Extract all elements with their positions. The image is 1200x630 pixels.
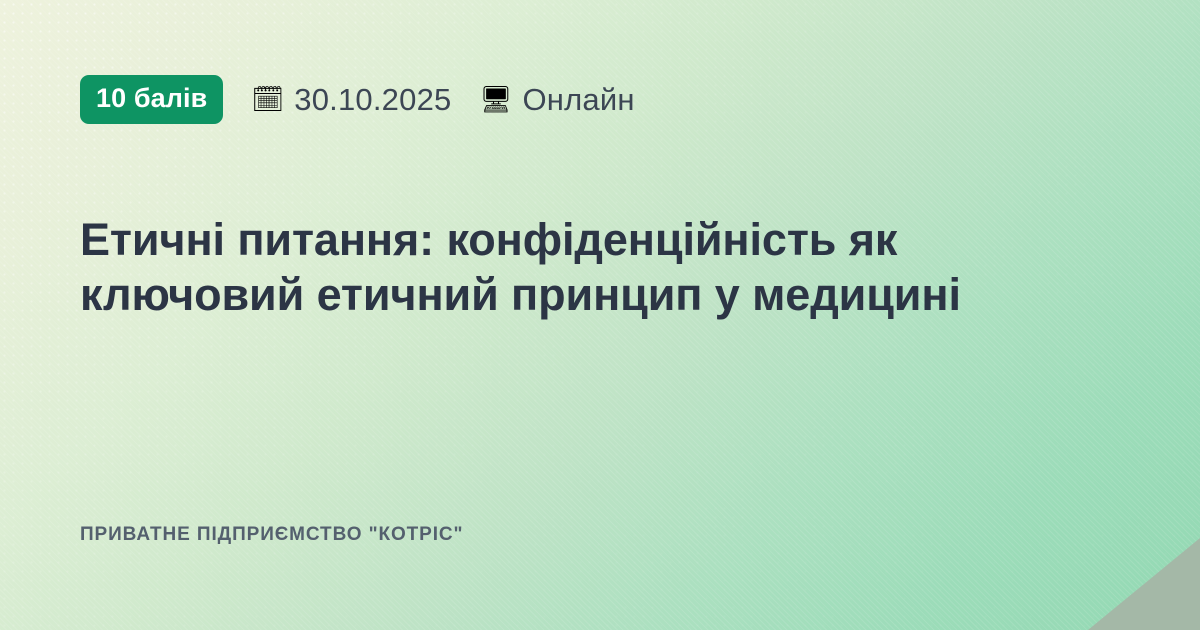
event-preview-card: 10 балів 🗓 30.10.2025 🖥 Онлайн Етичні пи… [0, 0, 1200, 630]
organization-name: ПРИВАТНЕ ПІДПРИЄМСТВО "КОТРІС" [80, 524, 463, 546]
spiral-calendar-icon: 🗓 [251, 86, 284, 112]
event-format: 🖥 Онлайн [479, 84, 634, 115]
event-date-value: 30.10.2025 [294, 84, 451, 115]
corner-accent-triangle [1088, 538, 1200, 630]
event-title: Етичні питання: конфіденційність як ключ… [80, 212, 1100, 323]
desktop-computer-icon: 🖥 [479, 86, 512, 112]
event-format-value: Онлайн [522, 84, 634, 115]
score-badge: 10 балів [80, 75, 223, 124]
event-date: 🗓 30.10.2025 [251, 84, 451, 115]
meta-row: 10 балів 🗓 30.10.2025 🖥 Онлайн [80, 76, 635, 122]
